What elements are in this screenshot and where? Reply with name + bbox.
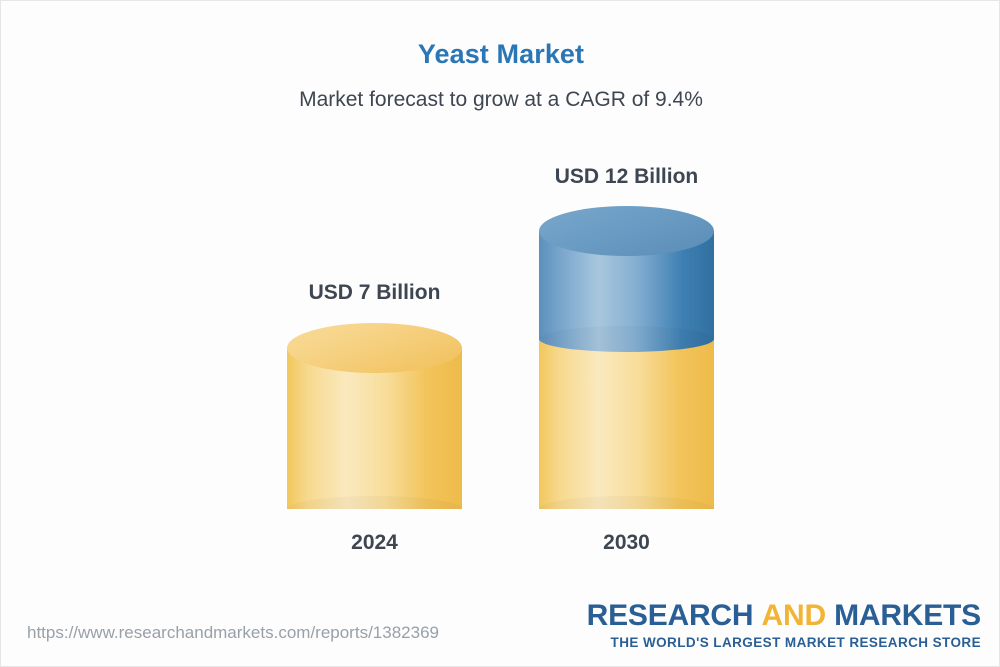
category-label-2030: 2030 [539,531,714,555]
cylinder-2024 [287,323,462,509]
bar-group-2030: USD 12 Billion 2030 [539,1,714,601]
cylinder-2030 [539,206,714,509]
logo-word-research: RESEARCH [587,599,754,632]
logo-tagline: THE WORLD'S LARGEST MARKET RESEARCH STOR… [587,635,981,651]
logo-word-and: AND [762,599,826,632]
value-label-2024: USD 7 Billion [287,281,462,305]
logo-word-markets: MARKETS [834,599,981,632]
logo-wordmark: RESEARCH AND MARKETS [587,601,981,632]
research-and-markets-logo[interactable]: RESEARCH AND MARKETS THE WORLD'S LARGEST… [587,601,981,651]
chart-canvas: Yeast Market Market forecast to grow at … [0,0,1000,667]
plot-area: USD 7 Billion 2024 USD 12 Billion [1,1,1000,601]
bar-group-2024: USD 7 Billion 2024 [287,1,462,601]
cylinder-segment-divider-2030 [539,326,714,352]
source-url-link[interactable]: https://www.researchandmarkets.com/repor… [27,623,439,643]
value-label-2030: USD 12 Billion [539,165,714,189]
cylinder-lower-segment-2030 [539,339,714,509]
category-label-2024: 2024 [287,531,462,555]
cylinder-top-2030 [539,206,714,256]
cylinder-top-2024 [287,323,462,373]
